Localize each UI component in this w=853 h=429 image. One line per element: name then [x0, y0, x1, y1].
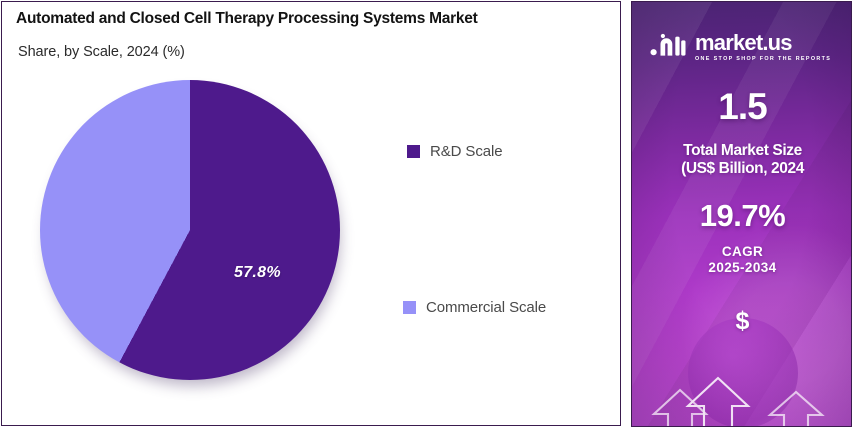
stat-market-size-caption-line2: (US$ Billion, 2024 — [632, 160, 852, 178]
pie-chart: 57.8% — [38, 78, 348, 388]
stat-cagr-caption-line2: 2025-2034 — [632, 260, 852, 276]
stat-cagr-caption-line1: CAGR — [632, 244, 852, 260]
chart-panel: Automated and Closed Cell Therapy Proces… — [1, 1, 621, 426]
legend-swatch-rd-scale — [407, 145, 420, 158]
pie-slice-label-rd: 57.8% — [234, 264, 281, 282]
stat-market-size-caption-line1: Total Market Size — [632, 142, 852, 160]
legend-item-rd-scale[interactable]: R&D Scale — [407, 143, 502, 160]
stat-market-size-caption: Total Market Size (US$ Billion, 2024 — [632, 142, 852, 178]
legend-item-commercial-scale[interactable]: Commercial Scale — [403, 299, 546, 316]
stat-market-size-value: 1.5 — [632, 86, 852, 128]
brand-tagline: ONE STOP SHOP FOR THE REPORTS — [695, 57, 831, 62]
three-up-arrows-icon — [632, 362, 852, 427]
stat-cagr-caption: CAGR 2025-2034 — [632, 244, 852, 275]
infographic-canvas: Automated and Closed Cell Therapy Proces… — [0, 0, 853, 429]
page-title: Automated and Closed Cell Therapy Proces… — [16, 10, 478, 28]
market-us-bars-icon — [650, 30, 686, 65]
pie-slices — [40, 80, 340, 380]
stat-cagr-value: 19.7% — [632, 198, 852, 234]
legend-label-commercial-scale: Commercial Scale — [426, 299, 546, 316]
dollar-sign-icon: $ — [632, 307, 852, 336]
legend-swatch-commercial-scale — [403, 301, 416, 314]
chart-subtitle: Share, by Scale, 2024 (%) — [18, 44, 185, 60]
brand-logo[interactable]: market.us ONE STOP SHOP FOR THE REPORTS — [650, 30, 836, 65]
brand-name: market.us — [695, 32, 831, 54]
promo-panel: market.us ONE STOP SHOP FOR THE REPORTS … — [631, 1, 852, 427]
legend-label-rd-scale: R&D Scale — [430, 143, 502, 160]
